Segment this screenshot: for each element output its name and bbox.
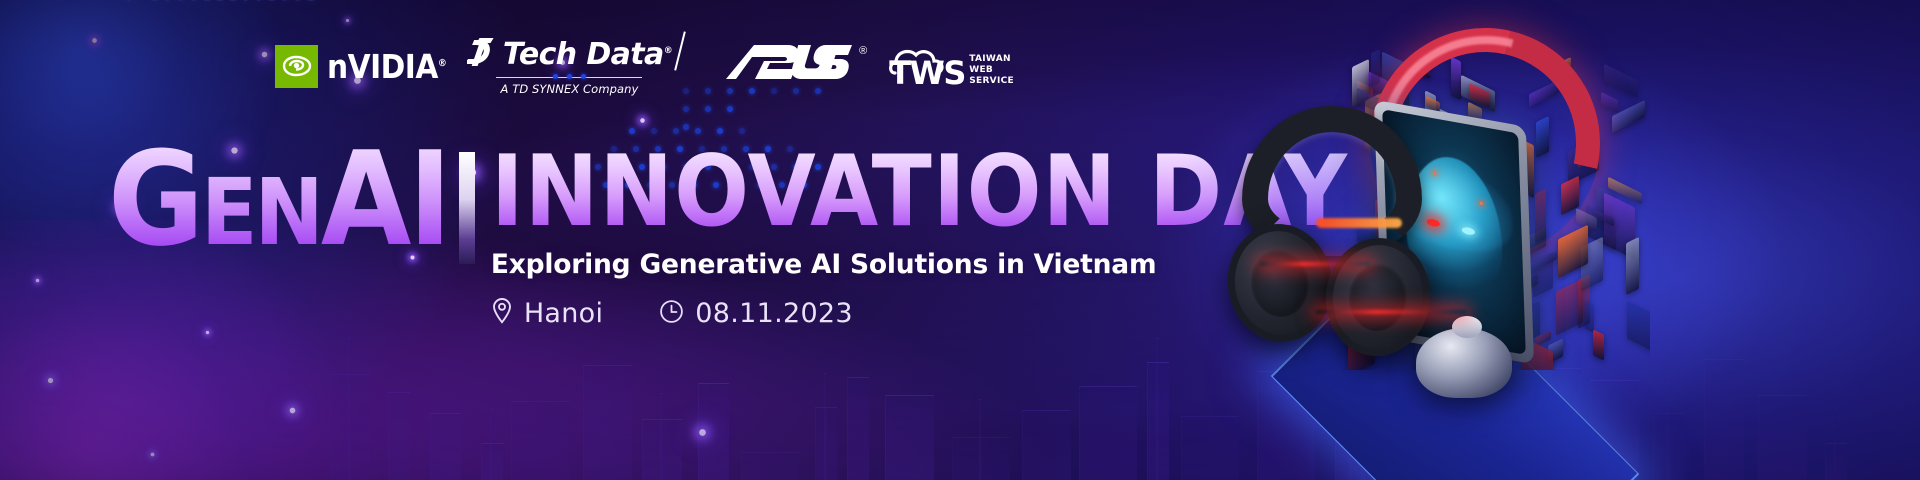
skyline-building	[430, 413, 461, 480]
skyline-building	[1825, 443, 1847, 480]
skyline-spire	[824, 373, 827, 480]
logo-nvidia[interactable]: nVIDIA®	[275, 45, 447, 88]
asus-trademark: ®	[859, 45, 867, 57]
skyline-building	[330, 374, 370, 480]
tws-subtitle-line-3: SERVICE	[969, 76, 1014, 87]
sparkle-4	[36, 279, 40, 283]
sparkle-16	[262, 52, 268, 58]
tws-subtitle-line-1: TAIWAN	[969, 54, 1014, 65]
skyline-building	[481, 443, 503, 480]
skyline-spire	[979, 399, 982, 480]
clock-icon	[659, 299, 684, 329]
skyline-spire	[1834, 409, 1837, 480]
headline-divider	[459, 152, 475, 264]
tech-data-slash-accent	[674, 31, 686, 70]
tws-subtitle-line-2: WEB	[969, 65, 1014, 76]
partner-logo-bar: nVIDIA® Tech Data® A TD SYNN	[275, 36, 1014, 96]
sparkle-15	[151, 453, 155, 457]
nvidia-trademark: ®	[438, 58, 447, 69]
tech-data-trademark: ®	[664, 46, 672, 56]
sparkle-10	[640, 118, 645, 123]
sparkle-2	[92, 38, 97, 43]
nvidia-eye-icon	[275, 45, 318, 88]
tech-block	[1626, 237, 1639, 295]
sparkle-12	[206, 331, 209, 334]
nvidia-wordmark: nVIDIA®	[327, 50, 447, 83]
tech-data-label: Tech Data®	[503, 40, 672, 70]
isometric-ai-tech-illustration	[1220, 10, 1740, 480]
logo-tech-data[interactable]: Tech Data® A TD SYNNEX Company	[467, 36, 672, 96]
skyline-building	[1022, 410, 1071, 480]
skyline-building	[388, 392, 410, 480]
headphone-orange-accent	[1316, 218, 1402, 228]
tech-data-wordmark-row: Tech Data®	[467, 36, 672, 74]
tech-block	[1601, 92, 1618, 113]
tech-block	[1627, 301, 1650, 356]
red-light-beam-upper	[1260, 262, 1370, 266]
skyline-building	[815, 407, 837, 480]
skyline-spire	[1156, 338, 1159, 480]
sparkle-1	[346, 19, 349, 22]
binary-column-3: 1 0 0 1 0 0 1 1 1 0 0 0 1 0	[122, 0, 317, 5]
skyline-building	[847, 377, 869, 480]
tech-block	[1585, 301, 1594, 333]
tech-block	[1371, 50, 1380, 87]
genai-innovation-day-banner: 0 0 1 0 0 1 01 0 1 0 0 1 0 0 1 0 0 1 0 0…	[0, 0, 1920, 480]
skyline-building	[698, 383, 729, 480]
skyline-building	[642, 419, 682, 480]
headphones	[1234, 106, 1434, 376]
location-label: Hanoi	[524, 298, 603, 329]
server-dome-cap	[1452, 316, 1482, 338]
event-date: 08.11.2023	[659, 298, 853, 329]
server-dome	[1416, 328, 1512, 398]
skyline-spire	[348, 338, 351, 480]
tws-subtitle: TAIWAN WEB SERVICE	[969, 54, 1014, 87]
location-pin-icon	[491, 297, 513, 330]
red-light-beam-lower	[1316, 310, 1466, 314]
logo-tws[interactable]: TWS TAIWAN WEB SERVICE	[887, 43, 1014, 89]
tech-data-subtitle: A TD SYNNEX Company	[500, 82, 638, 96]
tech-block	[1593, 329, 1604, 360]
skyline-building	[952, 437, 1010, 480]
sparkle-5	[48, 378, 53, 383]
genai-brand-title: GENAI	[108, 140, 449, 260]
event-location: Hanoi	[491, 297, 603, 330]
skyline-building	[511, 401, 569, 480]
sparkle-14	[699, 429, 706, 436]
sparkle-8	[290, 408, 296, 414]
tech-data-dots-accent	[553, 74, 586, 79]
logo-asus[interactable]: ®	[724, 41, 867, 92]
tws-wordmark: TWS	[889, 57, 965, 89]
skyline-building	[741, 452, 799, 480]
skyline-spire	[490, 409, 493, 480]
skyline-building	[583, 365, 632, 480]
date-label: 08.11.2023	[695, 298, 853, 329]
skyline-building	[885, 395, 934, 480]
tech-data-monogram-icon	[467, 36, 497, 74]
asus-wordmark	[724, 41, 856, 92]
tech-block	[1604, 64, 1638, 99]
skyline-building	[1079, 386, 1137, 480]
skyline-spire	[660, 393, 663, 480]
genai-small-caps: EN	[201, 159, 321, 266]
